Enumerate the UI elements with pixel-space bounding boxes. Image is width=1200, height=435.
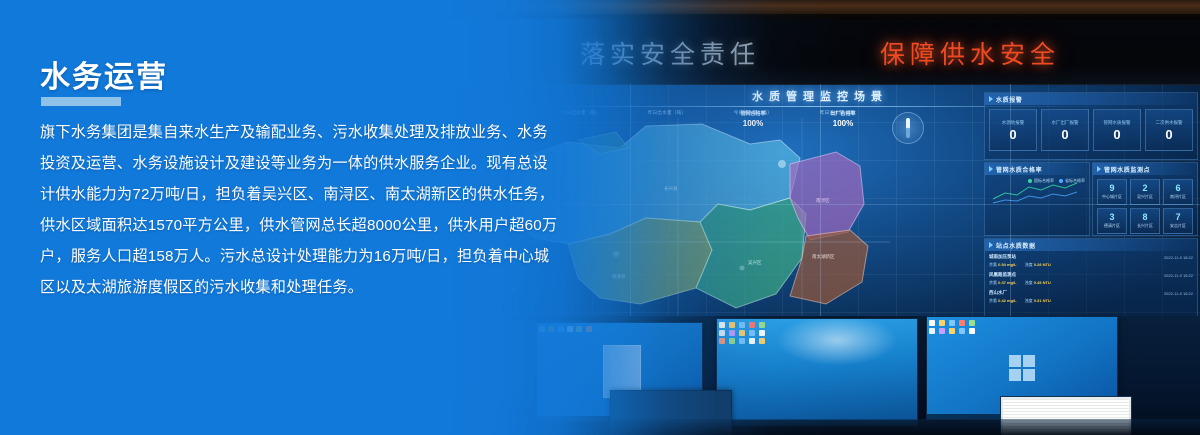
water-operations-banner: 落实安全责任 保障供水安全 水质管理监控场景 年累计供水量（万吨） 今日出水量（… bbox=[0, 0, 1200, 435]
legend-dot bbox=[1028, 179, 1032, 183]
led-slogan-right: 保障供水安全 bbox=[880, 35, 1060, 71]
map-label: 吴兴区 bbox=[748, 259, 762, 266]
alarm-card: 二次供水报警 0 bbox=[1145, 109, 1193, 151]
map-label: 德清县 bbox=[612, 273, 626, 280]
alarm-card: 水源地报警 0 bbox=[989, 109, 1037, 151]
station-log-row: 西山水厂 2022-11-9 18:22 余氯 0.42 mg/L 浊度 0.3… bbox=[989, 290, 1193, 304]
legend-dot bbox=[1059, 179, 1063, 183]
monitor-point-cell: 7 安吉片区 bbox=[1163, 208, 1193, 234]
page-title: 水务运营 bbox=[40, 52, 168, 96]
chevron-right-icon bbox=[989, 166, 993, 172]
alarm-card-list: 水源地报警 0 水厂出厂报警 0 管网水质报警 0 二次供水报警 bbox=[985, 105, 1197, 155]
panel-monitor-points: 管网水质监测点 9 中心城片区 2 吴兴片区 6 南浔片区 bbox=[1092, 162, 1198, 236]
panel-header: 站点水质数据 bbox=[985, 239, 1197, 251]
map-label: 南浔区 bbox=[816, 197, 830, 204]
panel-header: 管网水质合格率 bbox=[985, 163, 1089, 175]
chevron-right-icon bbox=[989, 242, 993, 248]
dashboard-sidebar: 水质报警 水源地报警 0 水厂出厂报警 0 管网水质报警 bbox=[984, 92, 1196, 318]
station-log-row: 城南加压泵站 2022-11-9 18:22 余氯 0.54 mg/L 浊度 0… bbox=[989, 254, 1193, 268]
chevron-right-icon bbox=[989, 96, 993, 102]
panel-pass-rate: 管网水质合格率 国标合格率 bbox=[984, 162, 1090, 236]
station-log-list: 城南加压泵站 2022-11-9 18:22 余氯 0.54 mg/L 浊度 0… bbox=[985, 251, 1197, 311]
alarm-card: 管网水质报警 0 bbox=[1093, 109, 1141, 151]
desktop-icon-grid bbox=[929, 320, 977, 334]
panel-header: 管网水质监测点 bbox=[1093, 163, 1197, 175]
map-marker bbox=[740, 266, 745, 271]
panel-water-quality-alarm: 水质报警 水源地报警 0 水厂出厂报警 0 管网水质报警 bbox=[984, 92, 1198, 160]
monitor-point-cell: 3 德清片区 bbox=[1097, 208, 1127, 234]
text-column: 水务运营 旗下水务集团是集自来水生产及输配业务、污水收集处理及排放业务、水务投资… bbox=[0, 0, 600, 435]
monitor-point-grid: 9 中心城片区 2 吴兴片区 6 南浔片区 3 bbox=[1093, 175, 1197, 238]
compass-icon bbox=[892, 112, 924, 144]
windows-logo-icon bbox=[1009, 355, 1035, 381]
map-marker bbox=[613, 251, 619, 257]
map-label: 长兴县 bbox=[664, 185, 678, 192]
monitor-3 bbox=[716, 318, 918, 426]
monitor-point-cell: 2 吴兴片区 bbox=[1130, 179, 1160, 205]
desktop-icon-grid bbox=[719, 322, 767, 344]
monitor-point-cell: 6 南浔片区 bbox=[1163, 179, 1193, 205]
title-underline-rule bbox=[41, 97, 121, 106]
monitor-point-cell: 8 长兴片区 bbox=[1130, 208, 1160, 234]
pass-rate-legend: 国标合格率 省标合格率 bbox=[1028, 178, 1085, 184]
legend-item: 省标合格率 bbox=[1059, 178, 1085, 184]
monitor-point-cell: 9 中心城片区 bbox=[1097, 179, 1127, 205]
chevron-right-icon bbox=[1097, 166, 1101, 172]
station-log-row: 凤凰路监测点 2022-11-9 18:22 余氯 0.37 mg/L 浊度 0… bbox=[989, 272, 1193, 286]
legend-item: 国标合格率 bbox=[1028, 178, 1054, 184]
panel-station-data: 站点水质数据 城南加压泵站 2022-11-9 18:22 余氯 0.54 mg… bbox=[984, 238, 1198, 320]
map-region-wuxing bbox=[696, 198, 806, 308]
section-body-text: 旗下水务集团是集自来水生产及输配业务、污水收集处理及排放业务、水务投资及运营、水… bbox=[40, 117, 560, 303]
alarm-card: 水厂出厂报警 0 bbox=[1041, 109, 1089, 151]
panel-header: 水质报警 bbox=[985, 93, 1197, 105]
map-marker bbox=[778, 160, 786, 168]
map-label: 南太湖新区 bbox=[812, 253, 835, 260]
